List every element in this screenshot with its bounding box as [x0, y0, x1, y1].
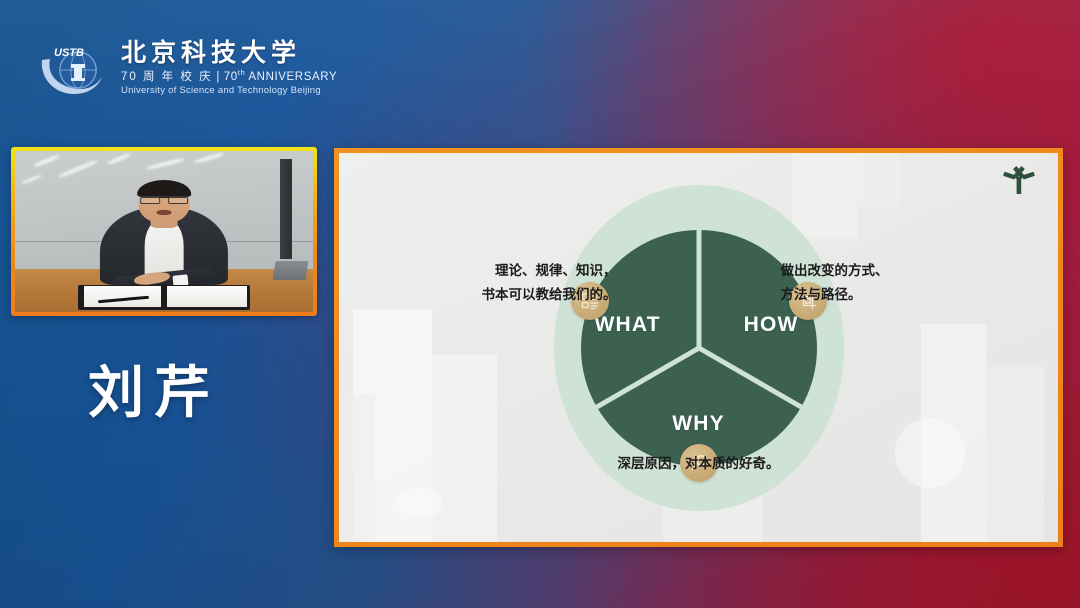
presentation-slide-panel[interactable]: WHAT HOW WHY — [334, 148, 1063, 547]
caption-what: 理论、规律、知识， 书本可以教给我们的。 — [482, 259, 617, 309]
caption-why: 深层原因，对本质的好奇。 — [618, 452, 780, 477]
video-person-mouth — [157, 210, 172, 216]
caption-how: 做出改变的方式、 方法与路径。 — [781, 259, 889, 309]
video-cabinet — [280, 159, 292, 259]
ustb-wordmark: USTB — [54, 47, 84, 59]
sector-label-why: WHY — [672, 412, 725, 436]
slide-bg-shape — [857, 153, 900, 207]
brand-text-block: 北京科技大学 70 周 年 校 庆 | 70th ANNIVERSARY Uni… — [121, 38, 337, 97]
video-desk-page-left — [84, 286, 161, 307]
caption-how-line-1: 做出改变的方式、 — [781, 259, 889, 284]
sector-label-what: WHAT — [595, 313, 661, 337]
slide-bg-shape — [895, 418, 965, 488]
glasses-lens-left — [140, 197, 160, 204]
ustb-brand-lockup: USTB 北京科技大学 70 周 年 校 庆 | 70th ANNIVERSAR… — [38, 38, 337, 98]
anniversary-cn: 70 周 年 校 庆 — [121, 70, 213, 82]
caption-what-line-2: 书本可以教给我们的。 — [482, 283, 617, 308]
glasses-icon — [140, 196, 188, 204]
slide-bg-shape — [986, 367, 1044, 542]
presentation-slide[interactable]: WHAT HOW WHY — [339, 153, 1058, 542]
brand-name-en: University of Science and Technology Bei… — [121, 85, 337, 97]
speaker-video-feed[interactable] — [15, 151, 313, 312]
anniversary-separator: | — [213, 70, 224, 82]
ustb-seal-icon: USTB — [38, 38, 112, 98]
zhenge-fund-logo-icon — [1002, 163, 1036, 197]
slide-bg-shape — [339, 394, 375, 542]
brand-anniversary: 70 周 年 校 庆 | 70th ANNIVERSARY — [121, 68, 337, 85]
caption-how-line-2: 方法与路径。 — [781, 283, 889, 308]
brand-name-cn: 北京科技大学 — [121, 40, 337, 66]
video-laptop — [273, 261, 309, 280]
caption-why-line-1: 深层原因，对本质的好奇。 — [618, 456, 780, 472]
speaker-name-label: 刘芹 — [88, 348, 220, 429]
broadcast-stage: USTB 北京科技大学 70 周 年 校 庆 | 70th ANNIVERSAR… — [0, 0, 1080, 608]
glasses-lens-right — [168, 197, 188, 204]
video-desk-page-right — [167, 286, 247, 307]
anniversary-en-word: ANNIVERSARY — [245, 70, 337, 82]
slide-bg-shape — [432, 355, 497, 542]
speaker-video-panel[interactable] — [11, 147, 317, 316]
slide-bg-shape — [397, 488, 443, 518]
why-how-what-graphic: WHAT HOW WHY — [549, 183, 849, 513]
sector-label-how: HOW — [744, 313, 799, 337]
anniversary-en-number: 70 — [224, 70, 238, 82]
caption-what-line-1: 理论、规律、知识， — [482, 259, 617, 284]
